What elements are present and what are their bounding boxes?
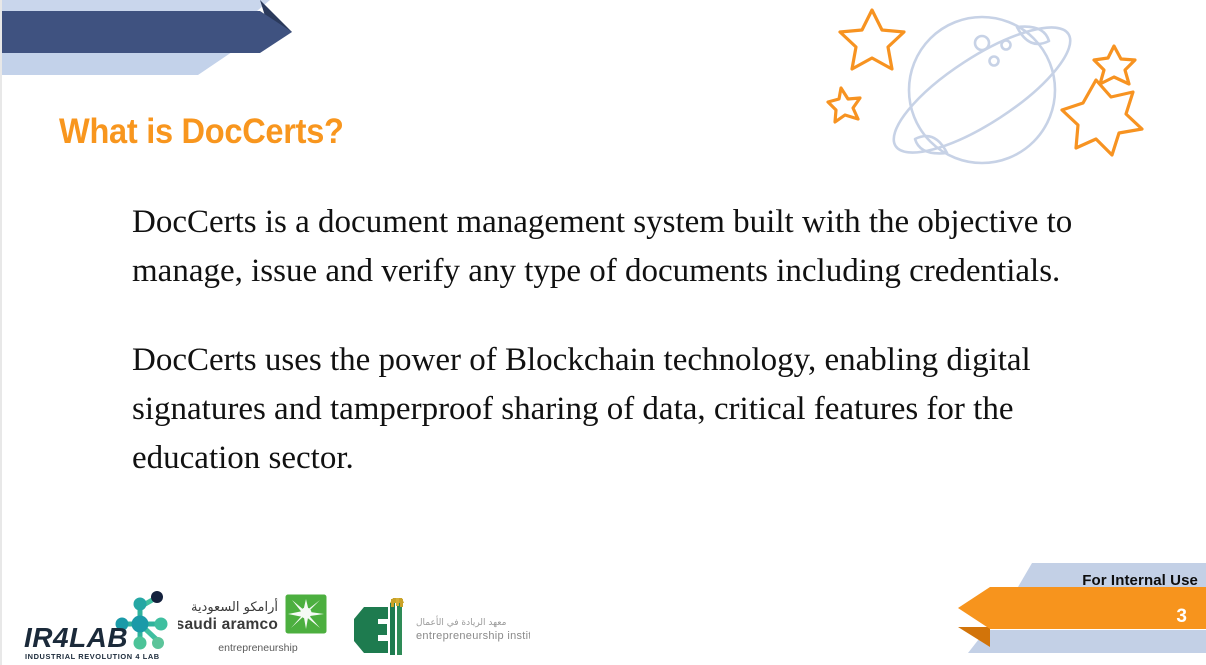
aramco-sublabel: entrepreneurship bbox=[218, 642, 298, 654]
banner-light-bottom bbox=[2, 52, 232, 75]
ir4lab-wordmark: IR4LAB bbox=[24, 622, 128, 653]
page-number: 3 bbox=[1176, 606, 1187, 628]
top-chevron-banner bbox=[2, 0, 342, 80]
ei-wordmark: entrepreneurship institute bbox=[416, 630, 530, 642]
page-title: What is DocCerts? bbox=[59, 112, 344, 152]
aramco-emblem bbox=[286, 595, 326, 633]
ei-mark bbox=[354, 598, 404, 655]
paragraph-1: DocCerts is a document management system… bbox=[132, 198, 1082, 296]
star-icon-small-left bbox=[828, 88, 860, 122]
footer-ribbon-chevron bbox=[958, 587, 1206, 629]
body-text: DocCerts is a document management system… bbox=[132, 198, 1112, 483]
star-icon-large-left bbox=[840, 10, 904, 69]
ir4lab-tagline: INDUSTRIAL REVOLUTION 4 LAB bbox=[25, 652, 160, 661]
space-decoration bbox=[802, 0, 1206, 200]
ir4lab-logo: IR4LAB INDUSTRIAL REVOLUTION 4 LAB bbox=[20, 589, 172, 663]
footer-ribbon-fold bbox=[958, 627, 990, 647]
slide: What is DocCerts? DocCerts is a document… bbox=[0, 0, 1206, 665]
footer-band-bottom bbox=[968, 630, 1206, 653]
banner-chevron bbox=[2, 11, 292, 53]
star-icon-small-right bbox=[1094, 46, 1135, 84]
logo-bar: IR4LAB INDUSTRIAL REVOLUTION 4 LAB أرامك… bbox=[20, 579, 530, 663]
ei-arabic-text: معهد الريادة في الأعمال bbox=[416, 615, 507, 628]
star-icon-large-right bbox=[1062, 80, 1142, 155]
star-icon-group bbox=[828, 10, 1142, 155]
classification-label: For Internal Use bbox=[1082, 572, 1198, 589]
saudi-aramco-entrepreneurship-logo: أرامكو السعودية saudi aramco entrepreneu… bbox=[178, 589, 338, 663]
aramco-arabic-text: أرامكو السعودية bbox=[191, 598, 278, 615]
paragraph-2: DocCerts uses the power of Blockchain te… bbox=[132, 336, 1082, 483]
aramco-wordmark: saudi aramco bbox=[178, 616, 278, 633]
saturn-planet-icon bbox=[878, 6, 1087, 174]
entrepreneurship-institute-logo: معهد الريادة في الأعمال entrepreneurship… bbox=[344, 597, 530, 663]
banner-light-top bbox=[2, 0, 270, 11]
